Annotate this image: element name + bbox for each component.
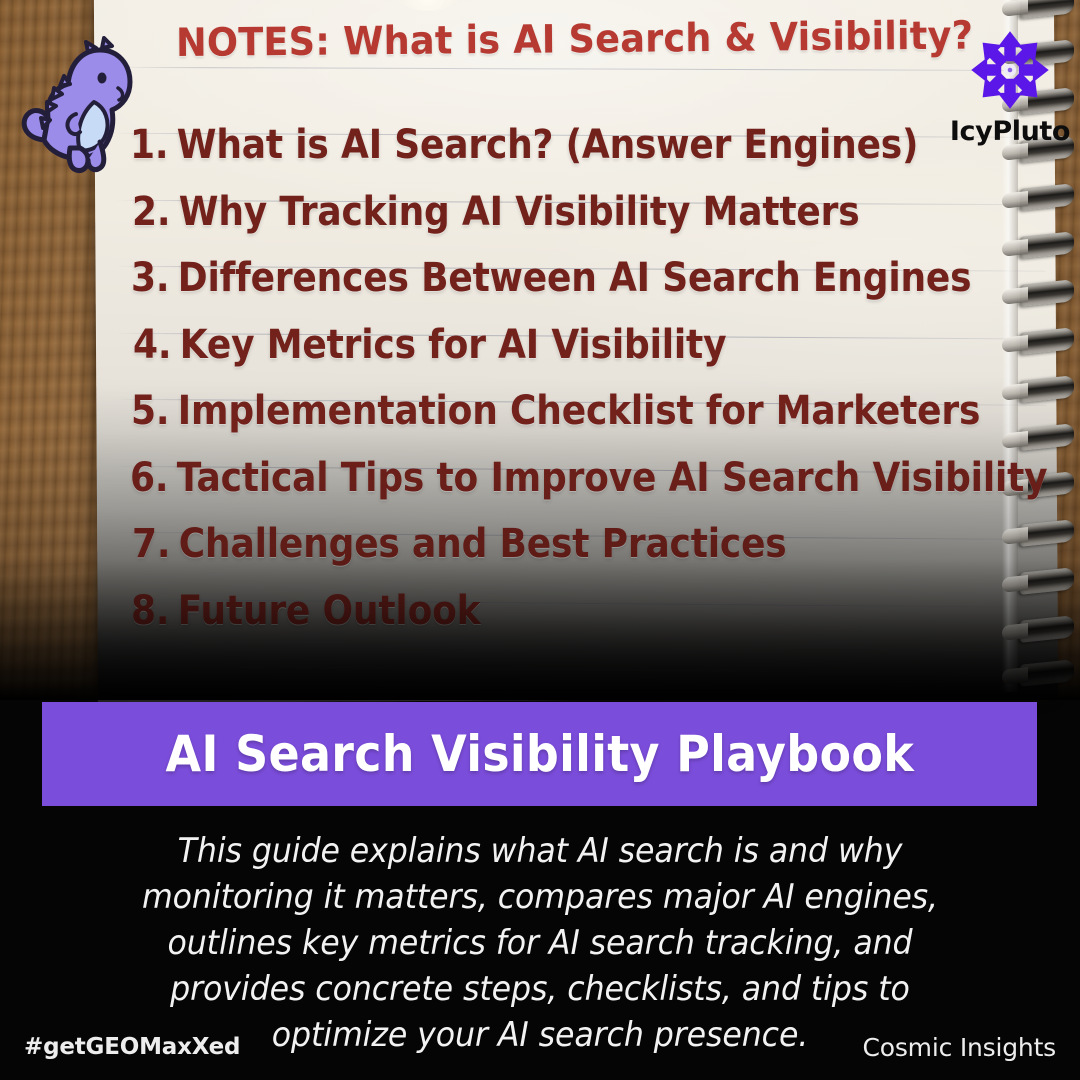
list-item: 5. Implementation Checklist for Marketer… xyxy=(131,378,965,445)
list-item-number: 7. xyxy=(132,511,179,578)
purple-asterisk-snowflake-icon xyxy=(966,26,1054,114)
list-item-number: 6. xyxy=(130,445,177,512)
social-card: NOTES: What is AI Search & Visibility? 1… xyxy=(0,0,1080,1080)
purple-dinosaur-mascot-icon xyxy=(14,22,140,178)
list-item-label: Why Tracking AI Visibility Matters xyxy=(179,179,860,246)
footer-publisher: Cosmic Insights xyxy=(863,1033,1057,1062)
brand-name: IcyPluto xyxy=(948,116,1072,147)
list-item-number: 8. xyxy=(131,578,178,645)
list-item: 6. Tactical Tips to Improve AI Search Vi… xyxy=(130,445,965,512)
list-item-label: Key Metrics for AI Visibility xyxy=(180,312,727,379)
list-item: 8. Future Outlook xyxy=(131,578,965,645)
list-item: 1. What is AI Search? (Answer Engines) xyxy=(130,112,965,179)
title-banner: AI Search Visibility Playbook xyxy=(42,702,1037,806)
list-item-label: Future Outlook xyxy=(178,578,481,645)
list-item: 4. Key Metrics for AI Visibility xyxy=(133,312,966,379)
list-item-label: Differences Between AI Search Engines xyxy=(178,245,972,312)
note-list: 1. What is AI Search? (Answer Engines) 2… xyxy=(128,112,1058,644)
brand-logo: IcyPluto xyxy=(948,26,1072,168)
page-title: AI Search Visibility Playbook xyxy=(165,725,914,783)
list-item: 3. Differences Between AI Search Engines xyxy=(131,245,965,312)
list-item-label: Tactical Tips to Improve AI Search Visib… xyxy=(177,445,1048,512)
list-item-number: 3. xyxy=(131,245,178,312)
footer: #getGEOMaxXed Cosmic Insights xyxy=(0,1020,1080,1080)
list-item-number: 5. xyxy=(131,378,178,445)
list-item-number: 2. xyxy=(132,179,179,246)
note-heading: NOTES: What is AI Search & Visibility? xyxy=(176,17,919,63)
list-item: 7. Challenges and Best Practices xyxy=(132,511,965,578)
list-item-number: 4. xyxy=(133,312,180,379)
list-item-label: Challenges and Best Practices xyxy=(179,511,787,578)
list-item: 2. Why Tracking AI Visibility Matters xyxy=(132,179,965,246)
list-item-label: What is AI Search? (Answer Engines) xyxy=(177,112,919,179)
list-item-label: Implementation Checklist for Marketers xyxy=(178,378,980,445)
footer-hashtag: #getGEOMaxXed xyxy=(24,1034,240,1060)
